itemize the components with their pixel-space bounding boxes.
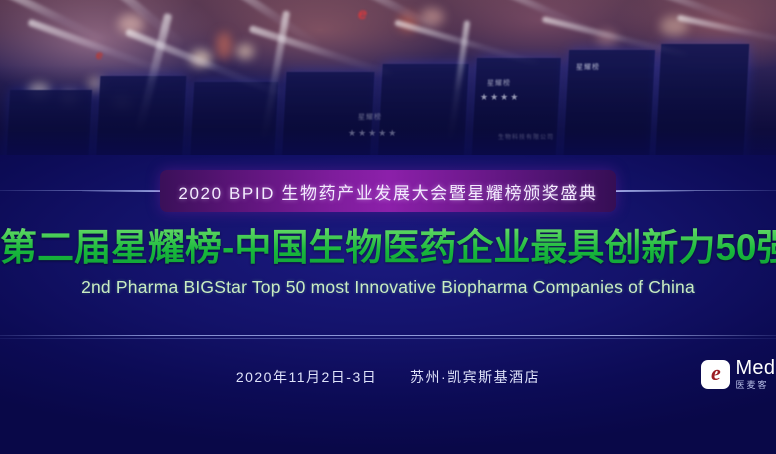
event-banner-pill: 2020 BPID 生物药产业发展大会暨星耀榜颁奖盛典 (160, 170, 615, 212)
poster-headline: 第二届星耀榜-中国生物医药企业最具创新力50强 (0, 217, 776, 271)
divider-bottom (0, 335, 776, 336)
event-date: 2020年11月2日-3日 (236, 369, 377, 385)
poster-dateline: 2020年11月2日-3日 苏州·凯宾斯基酒店 (0, 367, 776, 387)
trophy-photo: 星耀榜 ★★★★★ 星耀榜 ★★★★ 星耀榜 生物科技有限公司 e e (0, 0, 776, 162)
brand-logo: e MedC 医麦客 (701, 358, 776, 390)
event-banner-text: 2020 BPID 生物药产业发展大会暨星耀榜颁奖盛典 (178, 179, 597, 204)
event-banner-row: 2020 BPID 生物药产业发展大会暨星耀榜颁奖盛典 (0, 169, 776, 213)
brand-mark-icon: e (701, 360, 730, 389)
brand-wordmark: MedC 医麦客 (735, 358, 776, 390)
divider-bottom-accent (0, 338, 776, 339)
brand-name-cn: 医麦客 (735, 381, 776, 390)
poster-body: 2020 BPID 生物药产业发展大会暨星耀榜颁奖盛典 第二届星耀榜-中国生物医… (0, 155, 776, 454)
banner-rule-right (616, 191, 694, 192)
photo-vignette (0, 0, 776, 162)
event-venue: 苏州·凯宾斯基酒店 (410, 369, 540, 385)
brand-letter-e: e (711, 362, 721, 384)
poster-subtitle: 2nd Pharma BIGStar Top 50 most Innovativ… (0, 277, 776, 298)
event-poster: 星耀榜 ★★★★★ 星耀榜 ★★★★ 星耀榜 生物科技有限公司 e e 2020… (0, 0, 776, 454)
banner-rule-left (82, 191, 160, 192)
brand-name: MedC (735, 358, 776, 378)
